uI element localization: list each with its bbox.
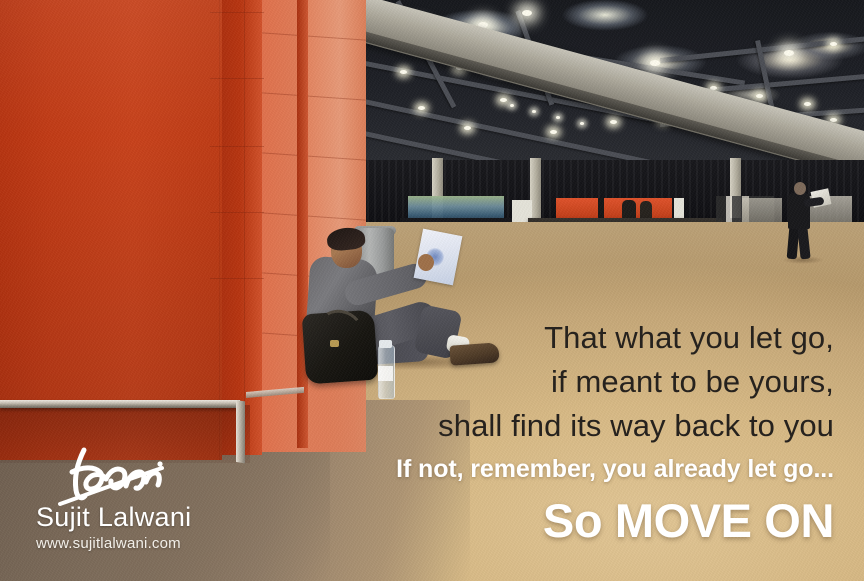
- red-backdrop: [556, 198, 672, 218]
- standing-man-leg: [797, 227, 810, 260]
- watermark-name: Sujit Lalwani: [36, 502, 192, 533]
- standing-man: [782, 182, 826, 264]
- red-wall-shading: [0, 0, 222, 460]
- signature-icon: [48, 446, 198, 508]
- red-wall-corner: [222, 0, 262, 455]
- poster-wall: [742, 198, 782, 224]
- quote-text-block: That what you let go, if meant to be you…: [294, 316, 834, 448]
- watermark: Sujit Lalwani www.sujitlalwani.com: [18, 446, 218, 566]
- hall-ceiling: [360, 0, 864, 175]
- seated-man-hand: [418, 254, 434, 271]
- quote-line-1: That what you let go,: [294, 316, 834, 360]
- skirting-rail: [0, 400, 240, 408]
- quote-line-2: if meant to be yours,: [294, 360, 834, 404]
- booth-box: [674, 198, 684, 220]
- standing-man-head: [794, 182, 806, 195]
- quote-line-3: shall find its way back to you: [294, 404, 834, 448]
- skirting-rail-corner: [236, 400, 245, 463]
- seated-staff: [640, 201, 652, 218]
- quote-poster: That what you let go, if meant to be you…: [0, 0, 864, 581]
- backdrop-divider: [598, 198, 604, 218]
- quote-closing-line: So MOVE ON: [234, 494, 834, 548]
- quote-emphasis-line: If not, remember, you already let go...: [234, 455, 834, 484]
- ceiling-beam: [348, 0, 864, 185]
- seated-staff: [622, 200, 636, 218]
- watermark-url: www.sujitlalwani.com: [36, 535, 181, 552]
